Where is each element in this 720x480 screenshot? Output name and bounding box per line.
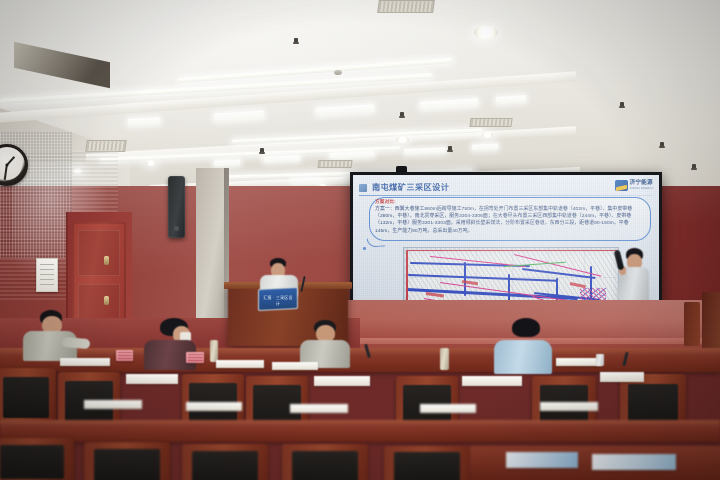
name-card-1: [116, 350, 133, 361]
attendee-4-hair: [512, 318, 540, 337]
bullet-square-icon: [359, 184, 367, 192]
sprinkler-head-4: [448, 146, 452, 151]
sprinkler-head-2: [400, 112, 404, 117]
ceiling-air-vent-2: [469, 118, 512, 127]
foreground-booklet-2: [592, 454, 676, 470]
downlight-3: [482, 132, 493, 138]
attendee-4-shirt: [494, 340, 552, 374]
chair-row3-3[interactable]: [182, 444, 268, 480]
slide-header: 南屯煤矿三采区设计: [359, 182, 653, 196]
stage-side-chair: [684, 302, 700, 346]
audience-desk-row-1-top: [0, 348, 720, 356]
papers-stack-2: [216, 360, 264, 368]
clock-center-pin: [6, 164, 9, 167]
logo-text: 济宁能源 JINING ENERGY: [630, 181, 654, 190]
papers-stack-8: [600, 372, 644, 382]
sprinkler-head-6: [260, 148, 264, 153]
thermos-2: [440, 348, 449, 370]
papers-stack-9: [84, 400, 142, 409]
chair-row3-4[interactable]: [282, 444, 368, 480]
papers-stack-13: [540, 402, 598, 411]
ceiling-air-vent-5: [317, 160, 352, 168]
slide-title-divider: [359, 195, 653, 196]
panel-light-c1: [292, 178, 320, 184]
sprinkler-head-1: [294, 38, 298, 43]
audience-attendee-1: [22, 310, 88, 358]
laptop-screen-text: 汇报 · 三采区设计: [262, 295, 294, 307]
papers-stack-5: [126, 374, 178, 384]
logo-mark-icon: [615, 180, 628, 191]
company-logo: 济宁能源 JINING ENERGY: [615, 180, 654, 191]
panel-light-b5: [214, 159, 240, 166]
papers-stack-7: [462, 376, 522, 386]
downlight-1: [474, 26, 498, 39]
papers-stack-1: [60, 358, 110, 366]
papers-stack-12: [420, 404, 476, 413]
microphone-icon: [614, 250, 625, 271]
cup-1: [596, 354, 604, 366]
callout-label: 方案对比:: [375, 199, 396, 205]
chair-row3-5[interactable]: [384, 446, 470, 480]
chair-row3-2[interactable]: [84, 442, 170, 480]
downlight-5: [146, 160, 156, 166]
panel-light-b4: [472, 143, 498, 150]
foreground-booklet-1: [506, 452, 578, 468]
audience-attendee-3: [300, 320, 358, 364]
audience-desk-row-2-top: [0, 420, 720, 427]
conference-room-scene: 南屯煤矿三采区设计 济宁能源 JINING ENERGY 方案对比: 方案一：西…: [0, 0, 720, 480]
sprinkler-head-3: [620, 102, 624, 107]
door-handle-lower[interactable]: [104, 296, 109, 305]
papers-stack-6: [314, 376, 370, 386]
slide-callout-tail: [367, 237, 386, 247]
door-handle-upper[interactable]: [104, 256, 109, 265]
door-upper-panel: [78, 230, 120, 276]
smoke-detector-1: [334, 70, 342, 75]
ceiling-air-vent-1: [377, 0, 435, 13]
sprinkler-head-5: [660, 142, 664, 147]
papers-stack-3: [272, 362, 318, 370]
door-notice-sheet: [36, 258, 58, 292]
wall-speaker: [168, 176, 185, 238]
papers-stack-10: [186, 402, 242, 411]
slide-callout-tail-dot: [363, 247, 366, 250]
chair-row3-1[interactable]: [0, 438, 74, 480]
callout-body-text: 方案一：西翼大巷施工860m后跨导施工750m，在拐弯处开门布置三采区东部集中轨…: [375, 206, 645, 235]
papers-stack-11: [290, 404, 348, 413]
thermos-1: [210, 340, 218, 362]
audience-attendee-4: [494, 318, 560, 370]
downlight-2: [396, 136, 409, 143]
sprinkler-head-7: [692, 164, 696, 169]
clock-face: [0, 150, 22, 180]
chair-row2-1[interactable]: [0, 368, 56, 424]
stage-side-cabinet: [702, 292, 720, 350]
logo-text-en: JINING ENERGY: [630, 187, 654, 190]
slide-title: 南屯煤矿三采区设计: [372, 181, 449, 193]
name-card-2: [186, 352, 204, 363]
